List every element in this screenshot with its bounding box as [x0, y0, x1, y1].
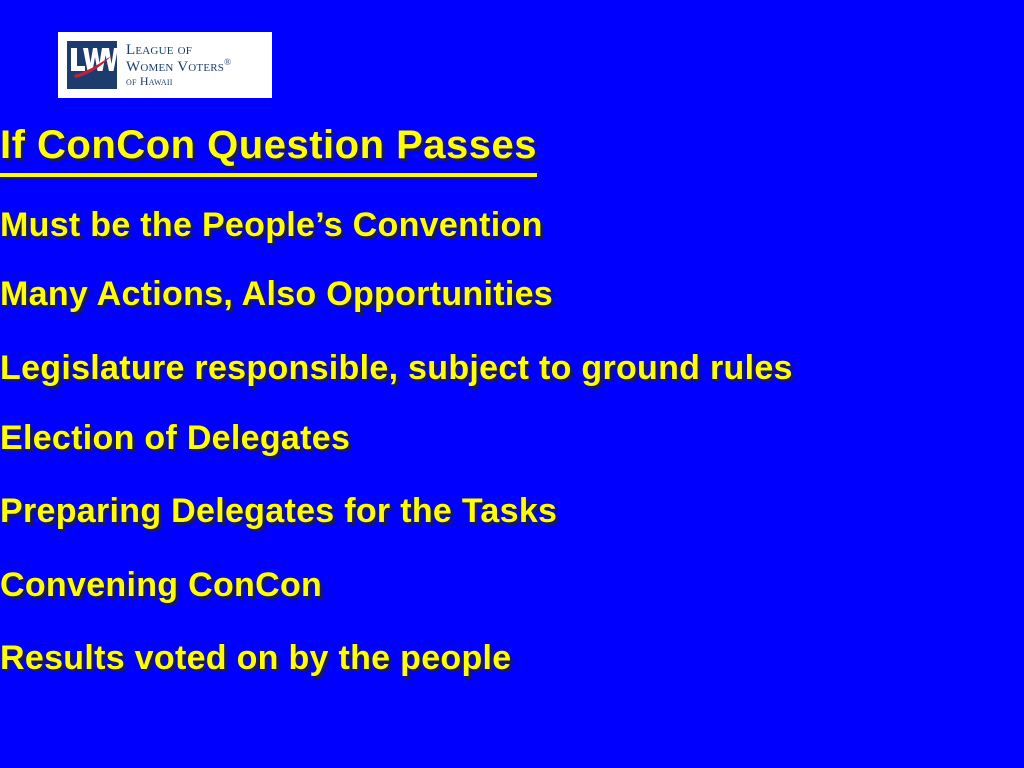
page-title: If ConCon Question Passes [0, 123, 1024, 168]
body-line-3: Legislature responsible, subject to grou… [0, 349, 1024, 388]
logo-line-league-of: League of [126, 42, 231, 58]
logo-line-women-voters: Women Voters® [126, 58, 231, 75]
presentation-slide: League of Women Voters® of Hawaii If Con… [0, 0, 1024, 768]
logo-container: League of Women Voters® of Hawaii [58, 32, 272, 98]
body-line-5: Preparing Delegates for the Tasks [0, 492, 1024, 531]
body-line-1: Must be the People’s Convention [0, 206, 1024, 245]
lwv-emblem-icon [66, 40, 118, 90]
body-line-2: Many Actions, Also Opportunities [0, 275, 1024, 314]
page-title-text: If ConCon Question Passes [0, 123, 537, 177]
body-line-4: Election of Delegates [0, 419, 1024, 458]
logo-wordmark: League of Women Voters® of Hawaii [126, 42, 231, 88]
body-line-7: Results voted on by the people [0, 639, 1024, 678]
logo-women-voters-text: Women Voters [126, 59, 224, 75]
logo-line-of-hawaii: of Hawaii [126, 75, 231, 88]
body-line-6: Convening ConCon [0, 566, 1024, 605]
registered-trademark-icon: ® [224, 57, 231, 67]
